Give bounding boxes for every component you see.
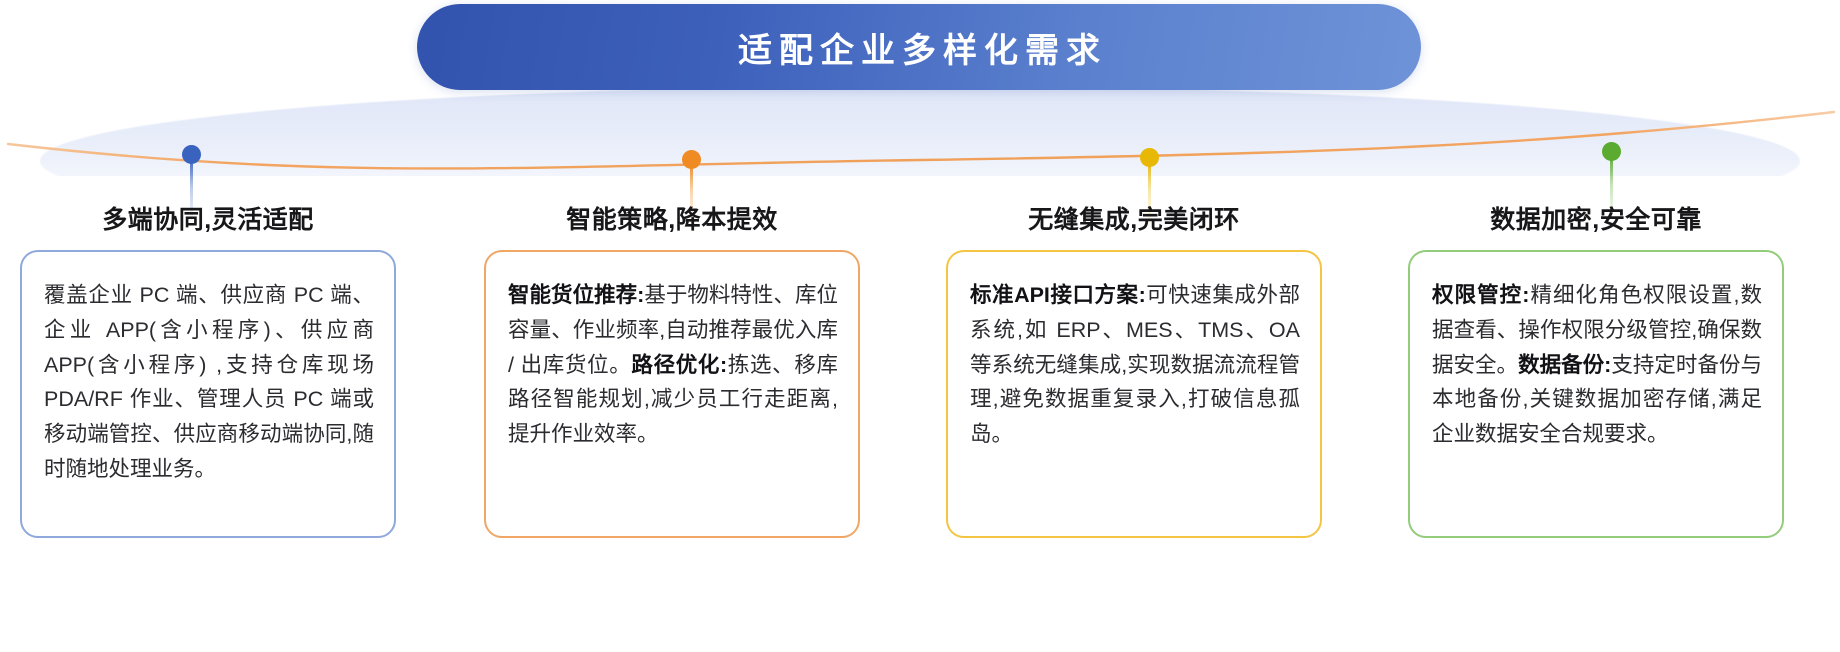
card-segment-label: 数据备份: bbox=[1518, 353, 1611, 377]
node-dot-3 bbox=[1602, 142, 1621, 161]
column-card-3: 权限管控:精细化角色权限设置,数据查看、操作权限分级管控,确保数据安全。数据备份… bbox=[1408, 250, 1784, 538]
card-body-0: 覆盖企业 PC 端、供应商 PC 端、企业 APP(含小程序)、供应商 APP(… bbox=[44, 278, 374, 487]
card-body-3: 权限管控:精细化角色权限设置,数据查看、操作权限分级管控,确保数据安全。数据备份… bbox=[1432, 278, 1762, 452]
column-card-1: 智能货位推荐:基于物料特性、库位容量、作业频率,自动推荐最优入库 / 出库货位。… bbox=[484, 250, 860, 538]
column-title-0: 多端协同,灵活适配 bbox=[20, 200, 396, 236]
card-segment-label: 权限管控: bbox=[1432, 283, 1529, 307]
header-banner: 适配企业多样化需求 bbox=[417, 4, 1421, 90]
column-card-2: 标准API接口方案:可快速集成外部系统,如 ERP、MES、TMS、OA 等系统… bbox=[946, 250, 1322, 538]
card-segment-label: 智能货位推荐: bbox=[508, 283, 644, 307]
card-segment-label: 标准API接口方案: bbox=[970, 283, 1146, 307]
column-card-0: 覆盖企业 PC 端、供应商 PC 端、企业 APP(含小程序)、供应商 APP(… bbox=[20, 250, 396, 538]
column-3: 数据加密,安全可靠 权限管控:精细化角色权限设置,数据查看、操作权限分级管控,确… bbox=[1408, 200, 1784, 538]
node-dot-0 bbox=[182, 145, 201, 164]
infographic-root: 适配企业多样化需求 多端协同,灵活适配 覆盖企业 PC 端、供应商 PC 端、企… bbox=[0, 0, 1840, 652]
card-segment-text: 可快速集成外部系统,如 ERP、MES、TMS、OA 等系统无缝集成,实现数据流… bbox=[970, 283, 1300, 446]
card-body-2: 标准API接口方案:可快速集成外部系统,如 ERP、MES、TMS、OA 等系统… bbox=[970, 278, 1300, 452]
column-0: 多端协同,灵活适配 覆盖企业 PC 端、供应商 PC 端、企业 APP(含小程序… bbox=[20, 200, 396, 538]
column-title-1: 智能策略,降本提效 bbox=[484, 200, 860, 236]
column-2: 无缝集成,完美闭环 标准API接口方案:可快速集成外部系统,如 ERP、MES、… bbox=[946, 200, 1322, 538]
card-body-1: 智能货位推荐:基于物料特性、库位容量、作业频率,自动推荐最优入库 / 出库货位。… bbox=[508, 278, 838, 452]
column-title-3: 数据加密,安全可靠 bbox=[1408, 200, 1784, 236]
connector-arc bbox=[0, 96, 1840, 206]
node-dot-2 bbox=[1140, 148, 1159, 167]
page-title: 适配企业多样化需求 bbox=[731, 23, 1107, 72]
node-dot-1 bbox=[682, 150, 701, 169]
column-title-2: 无缝集成,完美闭环 bbox=[946, 200, 1322, 236]
column-1: 智能策略,降本提效 智能货位推荐:基于物料特性、库位容量、作业频率,自动推荐最优… bbox=[484, 200, 860, 538]
card-segment-label: 路径优化: bbox=[631, 353, 727, 377]
